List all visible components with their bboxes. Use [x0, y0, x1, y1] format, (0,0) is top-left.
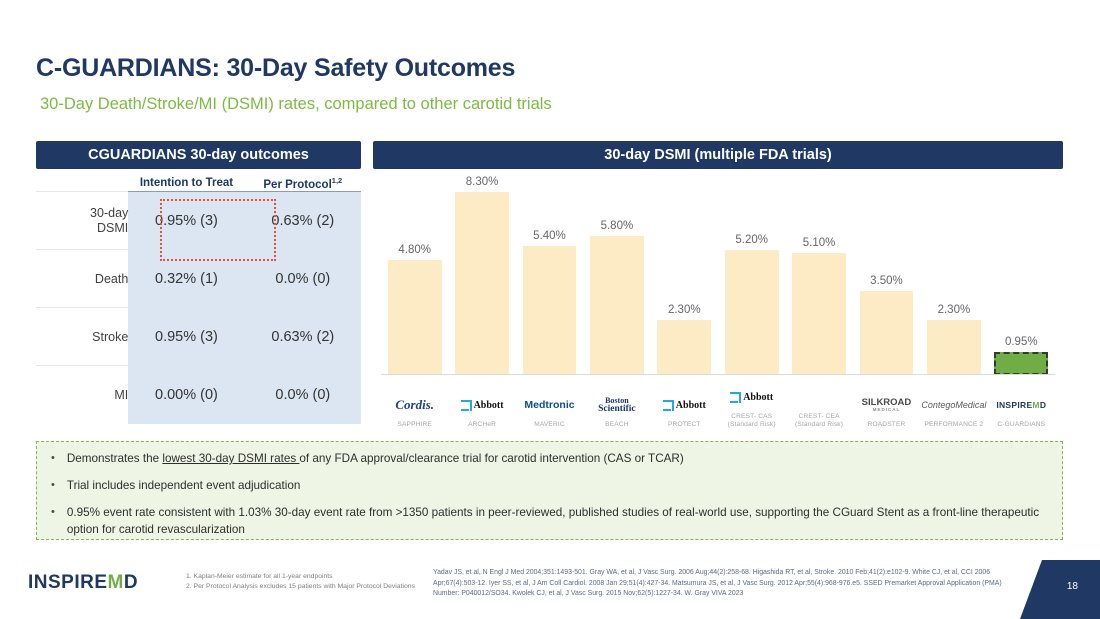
- sponsor-logo: SILKROADMEDICAL: [853, 397, 920, 414]
- bar-value-label: 5.10%: [803, 237, 836, 249]
- contego-medical-logo: ContegoMedical: [921, 400, 986, 410]
- cell-death-itt: 0.32% (1): [128, 250, 244, 308]
- trial-name-label: ARCHeR: [448, 421, 515, 429]
- logo-text-d: D: [124, 572, 138, 593]
- legend-cell-2: AbbottARCHeR: [448, 397, 515, 429]
- cell-stroke-itt: 0.95% (3): [128, 308, 244, 366]
- bar-value-label: 5.80%: [601, 220, 634, 232]
- cell-dsmi-pp: 0.63% (2): [245, 192, 361, 250]
- inspiremd-logo: INSPIREMD: [28, 572, 138, 594]
- legend-cell-1: Cordis.SAPPHIRE: [381, 397, 448, 429]
- trial-name-label: PROTECT: [651, 421, 718, 429]
- bar-value-label: 5.20%: [735, 234, 768, 246]
- sponsor-logo: Medtronic: [516, 397, 583, 414]
- header-pp-superscript: 1,2: [332, 176, 342, 185]
- bar-value-label: 8.30%: [466, 176, 499, 188]
- legend-cell-9: ContegoMedicalPERFORMANCE 2: [920, 397, 987, 429]
- trial-name-label: C-GUARDIANS: [988, 421, 1055, 429]
- header-itt: Intention to Treat: [128, 176, 244, 191]
- row-label-dsmi-l2: DSMI: [97, 221, 128, 235]
- bullet-0-pre: Demonstrates the: [67, 452, 163, 465]
- row-label-stroke: Stroke: [36, 308, 128, 366]
- bar-value-label: 4.80%: [398, 244, 431, 256]
- sponsor-logo: Abbott: [651, 397, 718, 414]
- bar: [725, 250, 779, 375]
- inspiremd-logo-small: INSPIREMD: [996, 400, 1046, 410]
- abbott-mark-icon: [663, 400, 674, 411]
- bar-value-label: 3.50%: [870, 275, 903, 287]
- footnote-2: 2. Per Protocol Analysis excludes 15 pat…: [186, 582, 426, 592]
- bar-value-label: 2.30%: [938, 304, 971, 316]
- sponsor-logo: INSPIREMD: [988, 397, 1055, 414]
- references-text: Yadav JS, et al, N Engl J Med 2004;351:1…: [433, 568, 1003, 600]
- bar-group-roadster: 3.50%: [860, 176, 914, 375]
- sponsor-logo: Abbott: [718, 389, 785, 406]
- right-panel-header: 30-day DSMI (multiple FDA trials): [373, 141, 1063, 169]
- table-row: Death 0.32% (1) 0.0% (0): [36, 250, 361, 308]
- page-subtitle: 30-Day Death/Stroke/MI (DSMI) rates, com…: [40, 95, 552, 114]
- list-item: • 0.95% event rate consistent with 1.03%…: [51, 505, 1048, 539]
- bullet-marker: •: [51, 451, 55, 468]
- bar-value-label: 5.40%: [533, 230, 566, 242]
- sponsor-logo: Abbott: [448, 397, 515, 414]
- legend-cell-7: CREST- CEA (Standard Risk): [785, 389, 852, 429]
- cell-mi-itt: 0.00% (0): [128, 366, 244, 424]
- bar-group-c-guardians: 0.95%: [994, 176, 1048, 375]
- outcomes-table: Intention to Treat Per Protocol1,2 30-da…: [36, 176, 361, 424]
- chart-plot-area: 4.80%8.30%5.40%5.80%2.30%5.20%5.10%3.50%…: [381, 176, 1055, 375]
- bar-group-archer: 8.30%: [455, 176, 509, 375]
- table-row: 30-day DSMI 0.95% (3) 0.63% (2): [36, 192, 361, 250]
- bar-value-label: 2.30%: [668, 304, 701, 316]
- bar-group-protect: 2.30%: [657, 176, 711, 375]
- cordis-logo: Cordis.: [395, 397, 434, 413]
- header-blank: [36, 176, 128, 191]
- legend-cell-5: AbbottPROTECT: [651, 397, 718, 429]
- abbott-logo: Abbott: [730, 392, 773, 403]
- bar-group-crest-cas-standard-risk: 5.20%: [725, 176, 779, 375]
- trial-name-label: BEACH: [583, 421, 650, 429]
- trial-name-label: MAVERIC: [516, 421, 583, 429]
- row-label-mi: MI: [36, 366, 128, 424]
- bullet-0-underlined: lowest 30-day DSMI rates: [162, 452, 299, 465]
- bullet-0-post: of any FDA approval/clearance trial for …: [299, 452, 683, 465]
- bar: [657, 320, 711, 375]
- logo-text-m: M: [108, 572, 124, 593]
- abbott-logo: Abbott: [461, 400, 504, 411]
- row-label-dsmi: 30-day DSMI: [36, 192, 128, 250]
- legend-cell-6: AbbottCREST- CAS (Standard Risk): [718, 389, 785, 429]
- table-row: MI 0.00% (0) 0.0% (0): [36, 366, 361, 424]
- page-title: C-GUARDIANS: 30-Day Safety Outcomes: [36, 54, 515, 83]
- legend-cell-8: SILKROADMEDICALROADSTER: [853, 397, 920, 429]
- legend-cell-10: INSPIREMDC-GUARDIANS: [988, 397, 1055, 429]
- left-panel-header: CGUARDIANS 30-day outcomes: [36, 141, 361, 169]
- list-item: • Demonstrates the lowest 30-day DSMI ra…: [51, 451, 1048, 468]
- table-row: Stroke 0.95% (3) 0.63% (2): [36, 308, 361, 366]
- bar: [590, 236, 644, 375]
- bar-group-beach: 5.80%: [590, 176, 644, 375]
- chart-category-legend: Cordis.SAPPHIREAbbottARCHeRMedtronicMAVE…: [381, 375, 1055, 429]
- legend-cell-4: BostonScientificBEACH: [583, 397, 650, 429]
- bullet-text: Trial includes independent event adjudic…: [67, 478, 300, 495]
- key-takeaways-box: • Demonstrates the lowest 30-day DSMI ra…: [36, 441, 1063, 540]
- trial-name-label: PERFORMANCE 2: [920, 421, 987, 429]
- page-number: 18: [1067, 581, 1078, 592]
- footnote-1: 1. Kaplan-Meier estimate for all 1-year …: [186, 572, 426, 582]
- medtronic-logo: Medtronic: [524, 399, 574, 411]
- abbott-logo: Abbott: [663, 400, 706, 411]
- abbott-mark-icon: [461, 400, 472, 411]
- outcomes-table-wrap: Intention to Treat Per Protocol1,2 30-da…: [36, 176, 361, 429]
- row-label-death: Death: [36, 250, 128, 308]
- abbott-mark-icon: [730, 392, 741, 403]
- bar-group-maveric: 5.40%: [523, 176, 577, 375]
- trial-name-label: CREST- CEA (Standard Risk): [785, 413, 852, 429]
- bullet-text: 0.95% event rate consistent with 1.03% 3…: [67, 505, 1048, 539]
- sponsor-logo: ContegoMedical: [920, 397, 987, 414]
- bar-group-crest-cea-standard-risk: 5.10%: [792, 176, 846, 375]
- slide-root: C-GUARDIANS: 30-Day Safety Outcomes 30-D…: [0, 0, 1100, 619]
- header-pp: Per Protocol1,2: [245, 176, 361, 191]
- silkroad-logo: SILKROADMEDICAL: [862, 398, 912, 412]
- table-header-row: Intention to Treat Per Protocol1,2: [36, 176, 361, 191]
- page-corner-decoration: [1020, 560, 1100, 619]
- bullet-marker: •: [51, 478, 55, 495]
- list-item: • Trial includes independent event adjud…: [51, 478, 1048, 495]
- row-label-dsmi-l1: 30-day: [90, 206, 128, 220]
- bar: [994, 352, 1048, 375]
- sponsor-logo: [785, 389, 852, 406]
- header-pp-text: Per Protocol: [263, 179, 331, 191]
- bar: [860, 291, 914, 375]
- cell-mi-pp: 0.0% (0): [245, 366, 361, 424]
- trial-name-label: SAPPHIRE: [381, 421, 448, 429]
- cell-death-pp: 0.0% (0): [245, 250, 361, 308]
- cell-dsmi-itt: 0.95% (3): [128, 192, 244, 250]
- sponsor-logo: Cordis.: [381, 397, 448, 414]
- bar-group-sapphire: 4.80%: [388, 176, 442, 375]
- dsmi-bar-chart: 4.80%8.30%5.40%5.80%2.30%5.20%5.10%3.50%…: [373, 176, 1063, 429]
- bullet-marker: •: [51, 505, 55, 539]
- bar: [523, 246, 577, 375]
- legend-cell-3: MedtronicMAVERIC: [516, 397, 583, 429]
- bar-value-label: 0.95%: [1005, 336, 1038, 348]
- trial-name-label: CREST- CAS (Standard Risk): [718, 413, 785, 429]
- logo-text-inspire: INSPIRE: [28, 572, 108, 593]
- bar: [927, 320, 981, 375]
- bar: [792, 253, 846, 375]
- bar-group-performance-2: 2.30%: [927, 176, 981, 375]
- sponsor-logo: BostonScientific: [583, 397, 650, 414]
- footnotes: 1. Kaplan-Meier estimate for all 1-year …: [186, 572, 426, 592]
- bullet-text: Demonstrates the lowest 30-day DSMI rate…: [67, 451, 684, 468]
- bar: [455, 192, 509, 375]
- bar: [388, 260, 442, 375]
- cell-stroke-pp: 0.63% (2): [245, 308, 361, 366]
- boston-scientific-logo: BostonScientific: [598, 397, 635, 413]
- trial-name-label: ROADSTER: [853, 421, 920, 429]
